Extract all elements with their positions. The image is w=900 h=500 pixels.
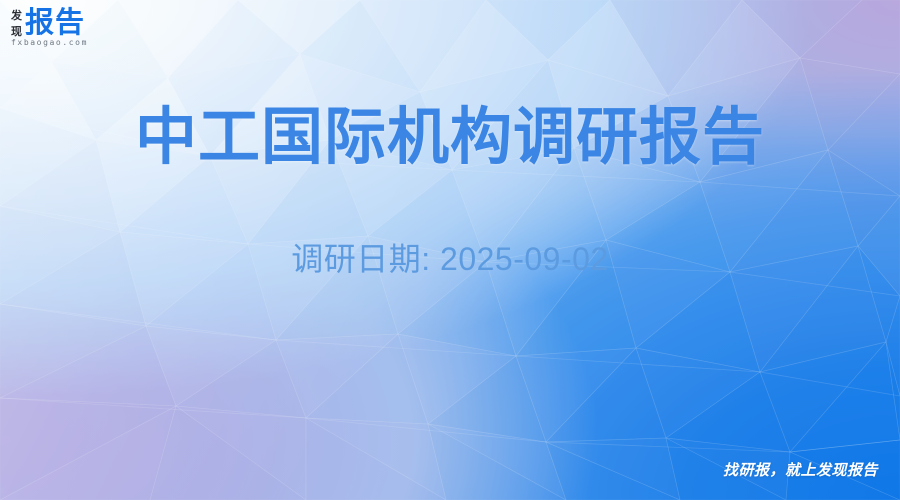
brand-watermark: 找研报，就上发现报告 <box>723 459 878 480</box>
cover-slide: 发 现 报告 fxbaogao.com 中工国际机构调研报告 调研日期: 202… <box>0 0 900 500</box>
logo-wordmark: 报告 <box>25 9 85 38</box>
logo-stacked-characters: 发 现 <box>11 9 22 39</box>
brand-logo[interactable]: 发 现 报告 <box>11 9 85 39</box>
page-subtitle: 调研日期: 2025-09-02 <box>0 234 900 280</box>
logo-url: fxbaogao.com <box>11 38 88 47</box>
page-title: 中工国际机构调研报告 <box>0 86 900 176</box>
logo-stacked-top: 发 <box>11 10 22 23</box>
